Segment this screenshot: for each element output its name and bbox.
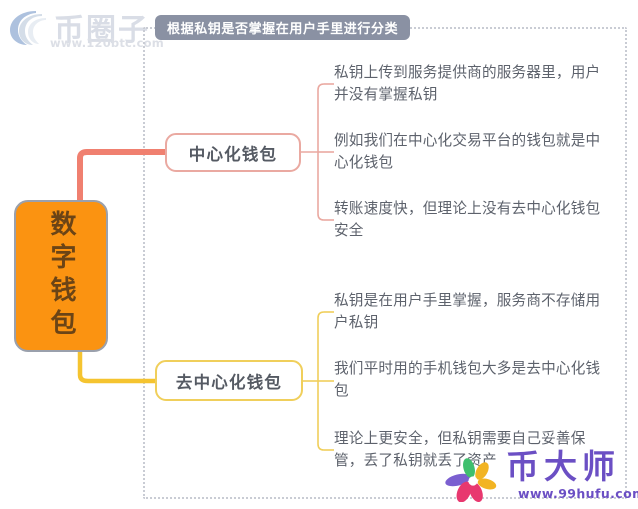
- diagram-title-text: 根据私钥是否掌握在用户手里进行分类: [167, 18, 398, 37]
- diagram-title: 根据私钥是否掌握在用户手里进行分类: [155, 15, 410, 40]
- leaf-text-decentralized-1: 私钥是在用户手里掌握，服务商不存储用户私钥: [334, 290, 606, 335]
- watermark-name: 币大师: [506, 450, 620, 483]
- watermark-url: www.99hufu.com: [518, 486, 638, 501]
- root-node-label: 数字钱包: [48, 210, 74, 342]
- branch-node-centralized[interactable]: 中心化钱包: [165, 133, 301, 172]
- leaf-text-decentralized-2: 我们平时用的手机钱包大多是去中心化钱包: [334, 358, 606, 403]
- leaf-text-centralized-3: 转账速度快，但理论上没有去中心化钱包安全: [334, 198, 606, 243]
- leaf-text-centralized-2: 例如我们在中心化交易平台的钱包就是中心化钱包: [334, 130, 606, 175]
- pinwheel-logo-icon: [442, 456, 504, 502]
- branch-node-decentralized-label: 去中心化钱包: [176, 369, 282, 393]
- leaf-text-centralized-1: 私钥上传到服务提供商的服务器里，用户并没有掌握私钥: [334, 62, 606, 107]
- watermark: 币大师 www.99hufu.com: [442, 452, 632, 504]
- root-node[interactable]: 数字钱包: [14, 200, 108, 352]
- branch-node-centralized-label: 中心化钱包: [189, 141, 278, 165]
- branch-node-decentralized[interactable]: 去中心化钱包: [155, 360, 303, 401]
